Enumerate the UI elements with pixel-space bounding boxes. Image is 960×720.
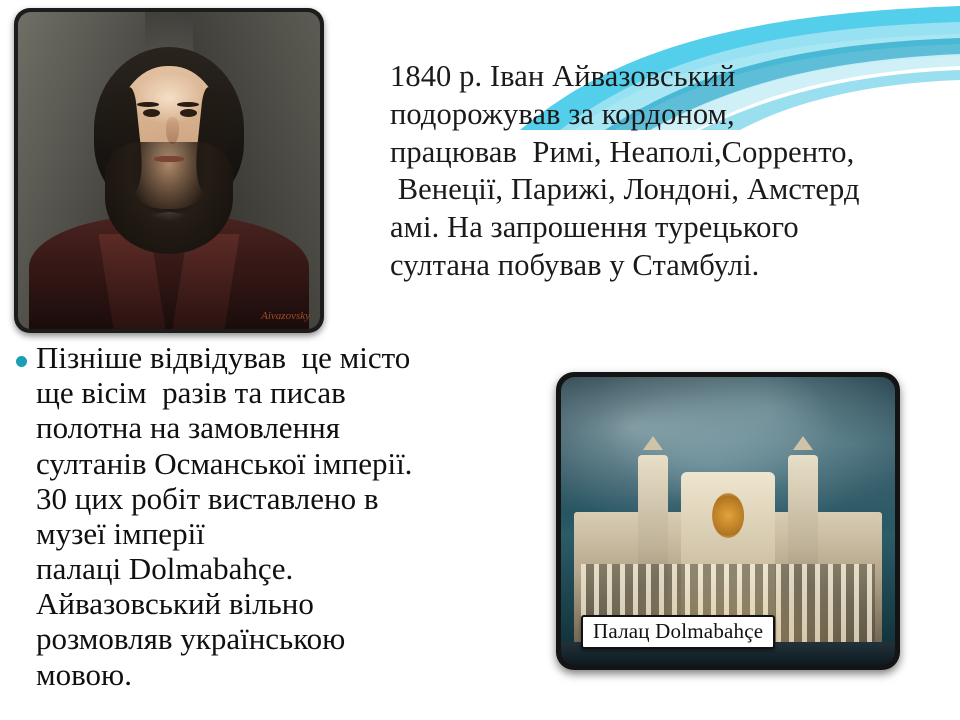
bullet-paragraph-line-1: Пізніше відвідував це місто — [36, 340, 516, 375]
top-paragraph-line-4: Венеції, Парижі, Лондоні, Амстерд — [390, 171, 935, 209]
top-paragraph-line-1: 1840 р. Іван Айвазовський — [390, 58, 935, 96]
bullet-paragraph-line-9: розмовляв українською — [36, 621, 516, 656]
top-paragraph: 1840 р. Іван Айвазовський подорожував за… — [390, 58, 935, 285]
bullet-paragraph-line-8: Айвазовський вільно — [36, 586, 516, 621]
portrait-signature: Aivazovsky — [261, 310, 310, 322]
bullet-paragraph-line-7: палаці Dolmabahçe. — [36, 551, 516, 586]
bullet-paragraph-line-5: 30 цих робіт виставлено в — [36, 481, 516, 516]
bullet-paragraph-line-4: султанів Османської імперії. — [36, 446, 516, 481]
palace-image: Палац Dolmabahçe — [561, 377, 895, 665]
bullet-paragraph-line-10: мовою. — [36, 657, 516, 692]
top-paragraph-line-3: працював Римі, Неаполі,Сорренто, — [390, 134, 935, 172]
top-paragraph-line-5: амі. На запрошення турецького — [390, 209, 935, 247]
top-paragraph-line-2: подорожував за кордоном, — [390, 96, 935, 134]
bullet-marker-icon — [16, 356, 27, 367]
portrait-eyebrow-right — [177, 102, 199, 107]
bullet-paragraph: Пізніше відвідував це місто ще вісім раз… — [36, 340, 516, 692]
top-paragraph-line-6: султана побував у Стамбулі. — [390, 247, 935, 285]
portrait-eye-right — [180, 109, 197, 117]
portrait-nose — [166, 117, 179, 144]
slide: Aivazovsky 1840 р. Іван Айвазовський под… — [0, 0, 960, 720]
portrait-image-frame: Aivazovsky — [14, 8, 324, 333]
portrait-eyebrow-left — [137, 102, 159, 107]
bullet-paragraph-line-6: музеї імперії — [36, 516, 516, 551]
bullet-paragraph-line-3: полотна на замовлення — [36, 410, 516, 445]
portrait-image: Aivazovsky — [18, 12, 320, 329]
bullet-paragraph-line-2: ще вісім разів та писав — [36, 375, 516, 410]
portrait-eye-left — [143, 109, 160, 117]
portrait-mouth — [154, 156, 184, 162]
palace-caption: Палац Dolmabahçe — [581, 615, 775, 649]
palace-image-frame: Палац Dolmabahçe — [556, 372, 900, 670]
